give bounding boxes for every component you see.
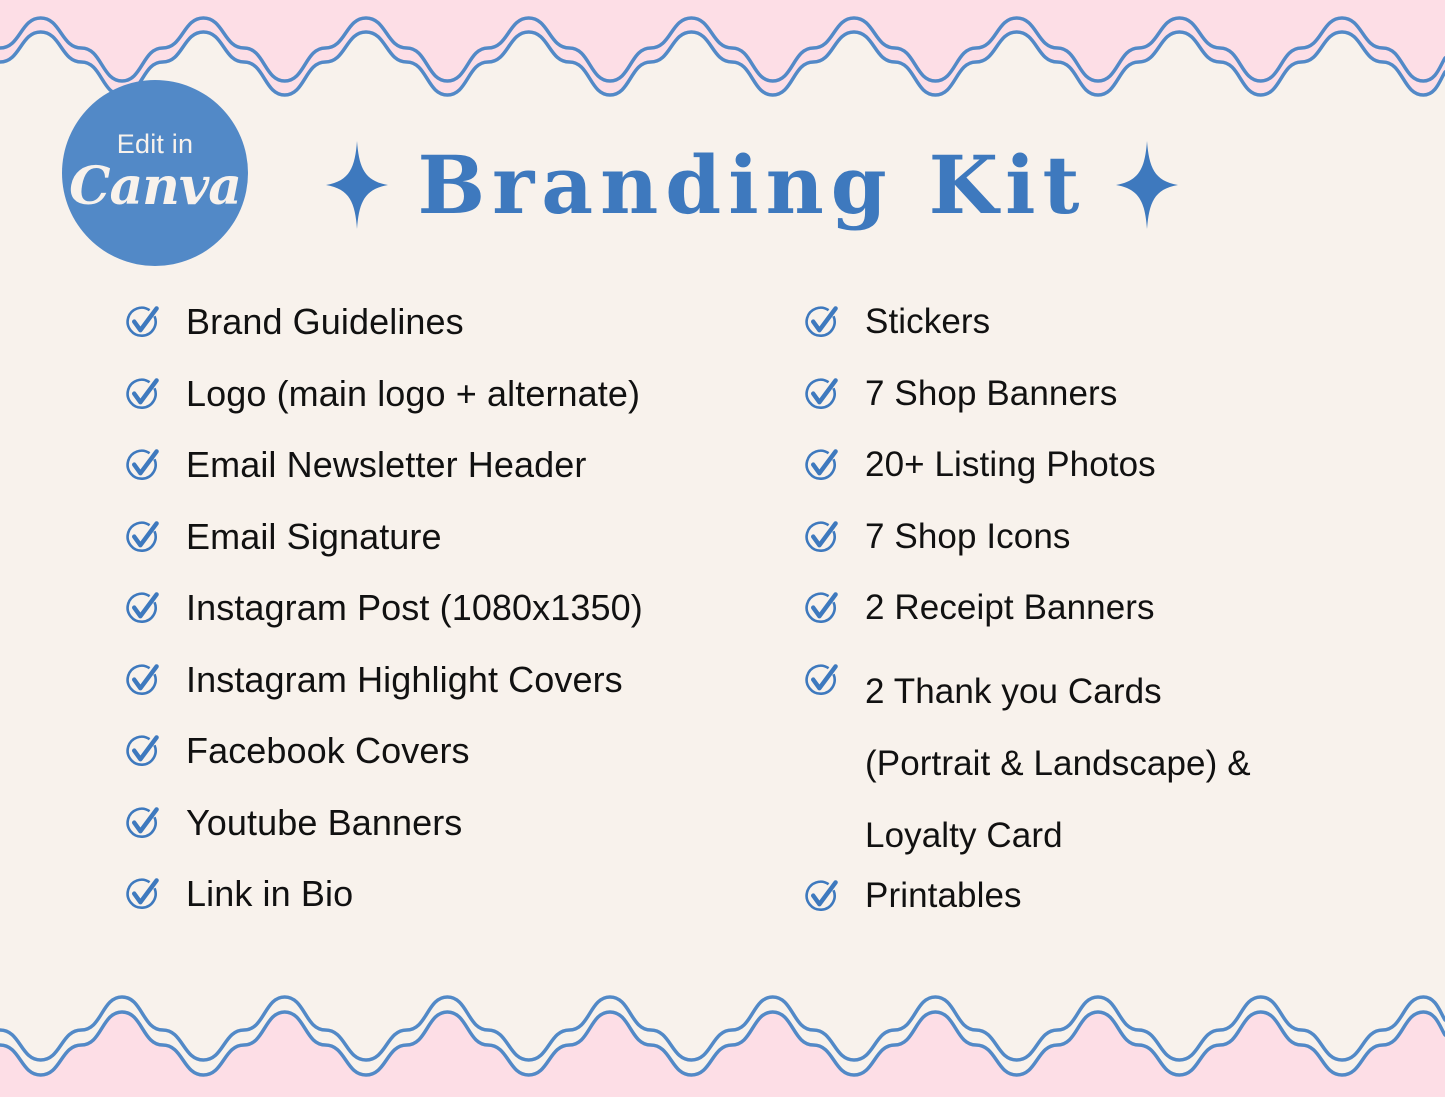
check-circle-icon <box>805 305 839 339</box>
poster-canvas: Edit in Canva Branding Kit Brand Guideli… <box>0 0 1445 1097</box>
list-item-label: 20+ Listing Photos <box>865 441 1156 489</box>
wavy-border-bottom <box>0 957 1445 1097</box>
sparkle-icon <box>1116 141 1178 229</box>
list-item-label: 7 Shop Icons <box>865 513 1071 561</box>
check-circle-icon <box>126 520 160 554</box>
list-item[interactable]: Logo (main logo + alternate) <box>126 370 790 442</box>
check-circle-icon <box>126 734 160 768</box>
list-item[interactable]: Link in Bio <box>126 870 790 942</box>
check-circle-icon <box>805 879 839 913</box>
list-item[interactable]: Instagram Highlight Covers <box>126 656 790 728</box>
list-item-label: Logo (main logo + alternate) <box>186 370 640 418</box>
badge-canva-wordmark: Canva <box>69 160 241 215</box>
list-item-label: Email Newsletter Header <box>186 441 586 489</box>
check-circle-icon <box>126 591 160 625</box>
checklist-columns: Brand Guidelines Logo (main logo + alter… <box>0 298 1445 943</box>
check-circle-icon <box>126 877 160 911</box>
list-item[interactable]: 7 Shop Icons <box>805 513 1445 585</box>
list-item-label: 2 Receipt Banners <box>865 584 1155 632</box>
list-item-label: Stickers <box>865 298 990 346</box>
check-circle-icon <box>805 448 839 482</box>
list-item[interactable]: Instagram Post (1080x1350) <box>126 584 790 656</box>
list-item[interactable]: 2 Receipt Banners <box>805 584 1445 656</box>
list-item-label: Printables <box>865 872 1022 920</box>
checklist-right-column: Stickers 7 Shop Banners 20+ Listing Phot… <box>790 298 1445 943</box>
list-item-label: 2 Thank you Cards (Portrait & Landscape)… <box>865 656 1251 872</box>
list-item[interactable]: 7 Shop Banners <box>805 370 1445 442</box>
list-item-label: Brand Guidelines <box>186 298 464 346</box>
sparkle-icon <box>326 141 388 229</box>
list-item[interactable]: 20+ Listing Photos <box>805 441 1445 513</box>
list-item-label: Instagram Post (1080x1350) <box>186 584 643 632</box>
list-item-label: Link in Bio <box>186 870 353 918</box>
check-circle-icon <box>126 305 160 339</box>
list-item[interactable]: Youtube Banners <box>126 799 790 871</box>
list-item[interactable]: Stickers <box>805 298 1445 370</box>
check-circle-icon <box>126 377 160 411</box>
check-circle-icon <box>126 806 160 840</box>
list-item-label: 7 Shop Banners <box>865 370 1117 418</box>
list-item[interactable]: Email Signature <box>126 513 790 585</box>
check-circle-icon <box>805 377 839 411</box>
list-item[interactable]: Printables <box>805 872 1445 944</box>
list-item-label: Email Signature <box>186 513 442 561</box>
list-item-label: Facebook Covers <box>186 727 470 775</box>
list-item[interactable]: Email Newsletter Header <box>126 441 790 513</box>
list-item[interactable]: 2 Thank you Cards (Portrait & Landscape)… <box>805 656 1445 872</box>
check-circle-icon <box>126 448 160 482</box>
page-title: Branding Kit <box>418 145 1087 225</box>
check-circle-icon <box>126 663 160 697</box>
badge-edit-in-label: Edit in <box>117 131 193 158</box>
check-circle-icon <box>805 591 839 625</box>
edit-in-canva-badge[interactable]: Edit in Canva <box>62 80 248 266</box>
list-item-label: Youtube Banners <box>186 799 462 847</box>
page-title-row: Branding Kit <box>262 130 1242 240</box>
list-item[interactable]: Brand Guidelines <box>126 298 790 370</box>
check-circle-icon <box>805 520 839 554</box>
list-item-label: Instagram Highlight Covers <box>186 656 623 704</box>
check-circle-icon <box>805 663 839 697</box>
list-item[interactable]: Facebook Covers <box>126 727 790 799</box>
checklist-left-column: Brand Guidelines Logo (main logo + alter… <box>0 298 790 943</box>
